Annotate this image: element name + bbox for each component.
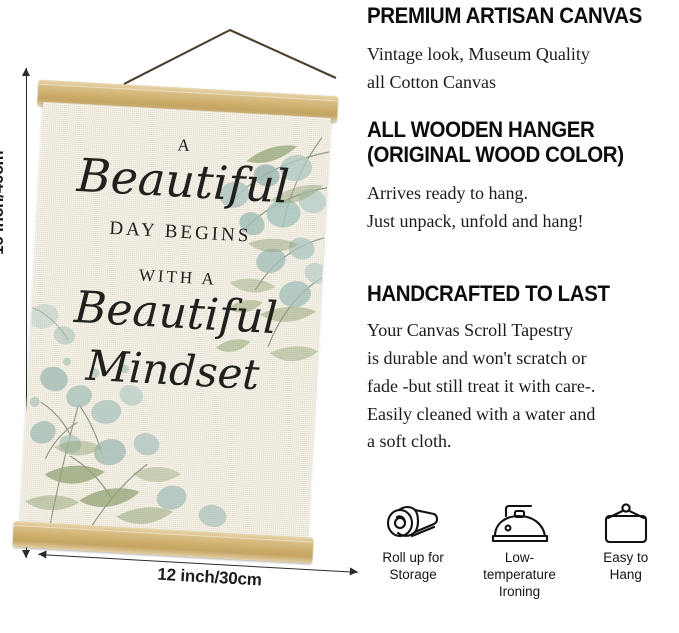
care-label-storage: Roll up for Storage [382, 550, 444, 584]
canvas-scroll: A Beautiful DAY BEGINS WITH A Beautiful … [12, 52, 339, 568]
care-label-line1: Low-temperature [483, 550, 556, 582]
care-label-ironing: Low-temperature Ironing [470, 550, 568, 601]
feature-heading: PREMIUM ARTISAN CANVAS [367, 4, 642, 29]
care-label-line1: Roll up for [382, 550, 444, 565]
care-label-line1: Easy to [603, 550, 648, 565]
care-item-storage: Roll up for Storage [364, 500, 462, 584]
feature-text: Easily cleaned with a water and [367, 401, 628, 429]
feature-text: Just unpack, unfold and hang! [367, 208, 643, 236]
feature-text: Arrives ready to hang. [367, 180, 643, 208]
care-label-line2: Storage [390, 567, 437, 582]
feature-heading: ALL WOODEN HANGER [367, 118, 624, 143]
feature-heading: (ORIGINAL WOOD COLOR) [367, 143, 624, 168]
hanging-frame-icon [599, 500, 653, 548]
feature-text: all Cotton Canvas [367, 69, 663, 97]
feature-text: is durable and won't scratch or [367, 345, 628, 373]
feature-text: a soft cloth. [367, 428, 628, 456]
width-dimension-label: 12 inch/30cm [157, 565, 262, 591]
feature-text: Vintage look, Museum Quality [367, 41, 663, 69]
iron-icon [489, 500, 549, 548]
care-item-ironing: Low-temperature Ironing [470, 500, 568, 601]
feature-heading: HANDCRAFTED TO LAST [367, 282, 610, 307]
product-image-panel: 16 inch/40cm [0, 0, 360, 633]
care-label-hang: Easy to Hang [603, 550, 648, 584]
care-instructions-row: Roll up for Storage Low-temperature Iron… [360, 500, 679, 600]
care-label-line2: Ironing [499, 584, 540, 599]
feature-section-canvas: PREMIUM ARTISAN CANVAS Vintage look, Mus… [367, 4, 663, 97]
care-item-hang: Easy to Hang [577, 500, 675, 584]
feature-section-durability: HANDCRAFTED TO LAST Your Canvas Scroll T… [367, 282, 628, 456]
feature-text: Your Canvas Scroll Tapestry [367, 317, 628, 345]
height-dimension-label: 16 inch/40cm [0, 151, 8, 255]
care-label-line2: Hang [610, 567, 642, 582]
feature-section-hanger: ALL WOODEN HANGER (ORIGINAL WOOD COLOR) … [367, 118, 643, 236]
feature-text: fade -but still treat it with care-. [367, 373, 628, 401]
product-infographic: 16 inch/40cm [0, 0, 679, 633]
eucalyptus-foliage-art [20, 102, 331, 541]
canvas-sheet: A Beautiful DAY BEGINS WITH A Beautiful … [20, 102, 331, 541]
rolled-canvas-icon [384, 500, 442, 548]
